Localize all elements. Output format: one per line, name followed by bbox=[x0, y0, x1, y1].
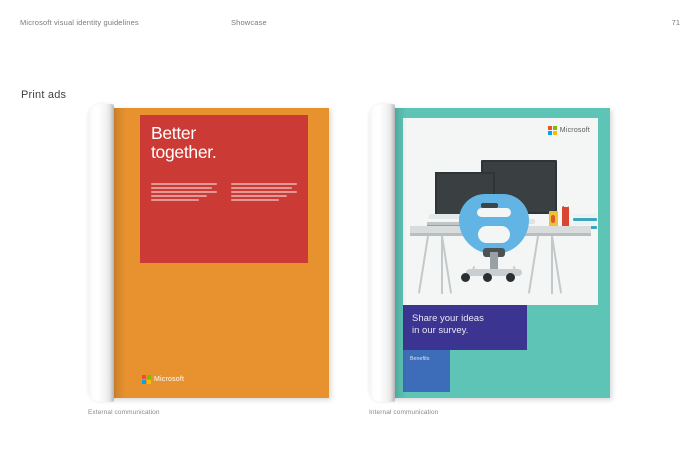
office-chair-icon bbox=[459, 194, 529, 280]
desk-leg-left bbox=[425, 236, 459, 294]
ad-page-orange: Better together. bbox=[110, 108, 329, 398]
ad-page-teal: Microsoft bbox=[391, 108, 610, 398]
headline-line-2: in our survey. bbox=[412, 325, 484, 337]
ad-headline: Better together. bbox=[151, 124, 301, 162]
microsoft-logo: Microsoft bbox=[548, 126, 590, 135]
headline-line-2: together. bbox=[151, 143, 301, 162]
page-number: 71 bbox=[672, 18, 680, 27]
headline-line-1: Share your ideas bbox=[412, 313, 484, 325]
ad-headline: Share your ideas in our survey. bbox=[412, 313, 484, 336]
headline-line-1: Better bbox=[151, 124, 301, 143]
headline-block: Share your ideas in our survey. bbox=[403, 305, 527, 350]
headline-block: Better together. bbox=[140, 115, 308, 263]
microsoft-wordmark: Microsoft bbox=[154, 376, 184, 383]
running-header: Microsoft visual identity guidelines Sho… bbox=[0, 18, 700, 32]
ad-spread-external: Better together. bbox=[88, 108, 333, 398]
microsoft-wordmark: Microsoft bbox=[560, 127, 590, 134]
microsoft-logo: Microsoft bbox=[142, 375, 184, 384]
guideline-page: Microsoft visual identity guidelines Sho… bbox=[0, 0, 700, 452]
desk-photo: Microsoft bbox=[403, 118, 598, 305]
desk-leg-right bbox=[535, 236, 569, 294]
microsoft-logo-squares-icon bbox=[548, 126, 557, 135]
bottle-icon bbox=[562, 206, 569, 228]
figure-external-ad: Better together. bbox=[88, 108, 333, 404]
page-roll-spine bbox=[88, 104, 114, 402]
body-column-1 bbox=[151, 183, 219, 203]
ad-spread-internal: Microsoft bbox=[369, 108, 614, 398]
header-document-title: Microsoft visual identity guidelines bbox=[20, 18, 139, 27]
page-title: Print ads bbox=[21, 89, 66, 101]
tag-block: Benefits bbox=[403, 350, 450, 392]
microsoft-logo-squares-icon bbox=[142, 375, 151, 384]
figure-internal-ad: Microsoft bbox=[369, 108, 614, 404]
page-roll-spine bbox=[369, 104, 395, 402]
ad-body-copy bbox=[151, 183, 299, 203]
tag-label: Benefits bbox=[410, 356, 430, 362]
figure-caption-external: External communication bbox=[88, 409, 160, 416]
figure-caption-internal: Internal communication bbox=[369, 409, 438, 416]
header-section-name: Showcase bbox=[231, 18, 267, 27]
body-column-2 bbox=[231, 183, 299, 203]
